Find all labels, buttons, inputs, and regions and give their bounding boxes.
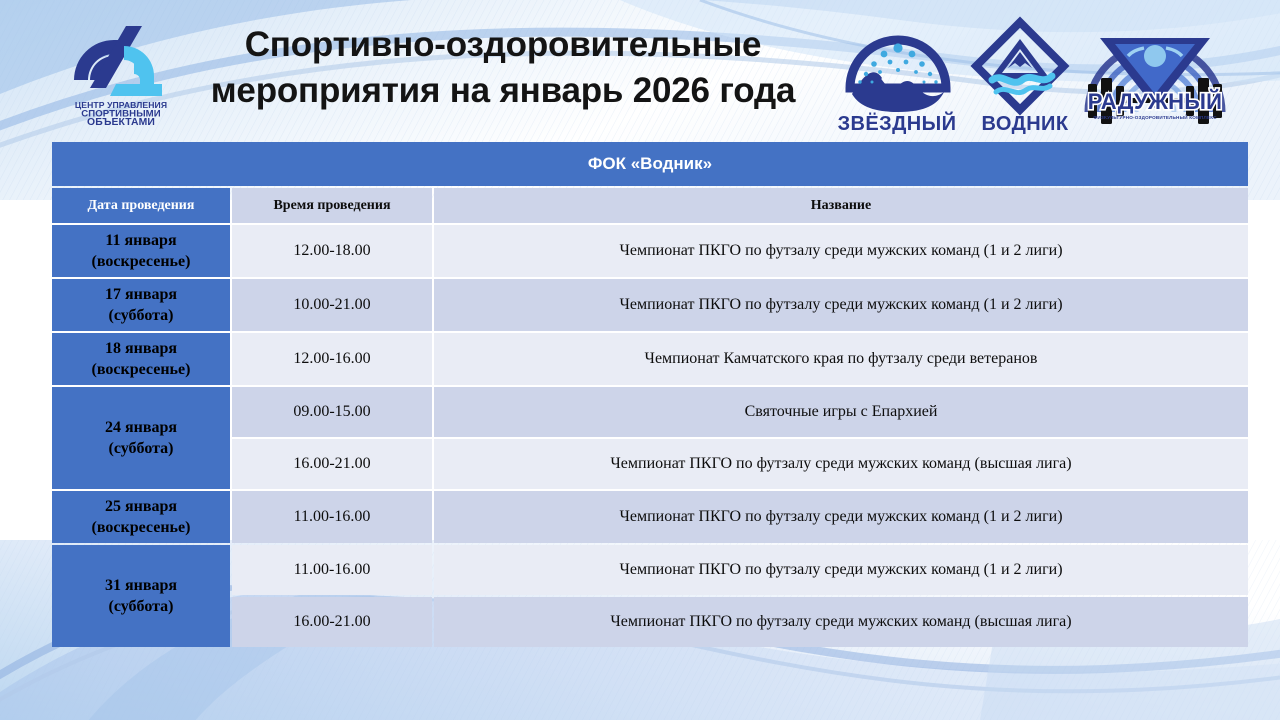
venue-logo-group: ЗВЁЗДНЫЙ ВОДНИК bbox=[820, 14, 1240, 136]
event-name-cell: Чемпионат ПКГО по футзалу среди мужских … bbox=[434, 279, 1248, 331]
time-cell: 11.00-16.00 bbox=[232, 545, 432, 595]
svg-text:ОБЪЕКТАМИ: ОБЪЕКТАМИ bbox=[87, 117, 155, 126]
event-name-cell: Чемпионат ПКГО по футзалу среди мужских … bbox=[434, 545, 1248, 595]
raduzhny-sublabel: ФИЗКУЛЬТУРНО-ОЗДОРОВИТЕЛЬНЫЙ КОМПЛЕКС bbox=[1093, 113, 1217, 120]
date-cell: 24 января (суббота) bbox=[52, 387, 230, 489]
table-row: 25 января (воскресенье) 11.00-16.00 Чемп… bbox=[52, 491, 1248, 543]
table-row: 16.00-21.00 Чемпионат ПКГО по футзалу ср… bbox=[52, 439, 1248, 489]
raduzhny-logo: РАДУЖНЫЙ ФИЗКУЛЬТУРНО-ОЗДОРОВИТЕЛЬНЫЙ КО… bbox=[1070, 14, 1240, 134]
table-row: 16.00-21.00 Чемпионат ПКГО по футзалу ср… bbox=[52, 597, 1248, 647]
vodnik-logo: ВОДНИК bbox=[968, 14, 1086, 134]
date-day: 11 января bbox=[105, 232, 176, 249]
table-row: 11 января (воскресенье) 12.00-18.00 Чемп… bbox=[52, 225, 1248, 277]
time-cell: 12.00-16.00 bbox=[232, 333, 432, 385]
slide-header: ЦЕНТР УПРАВЛЕНИЯ СПОРТИВНЫМИ ОБЪЕКТАМИ С… bbox=[0, 0, 1280, 140]
event-name-cell: Чемпионат ПКГО по футзалу среди мужских … bbox=[434, 439, 1248, 489]
date-cell: 18 января (воскресенье) bbox=[52, 333, 230, 385]
table-caption-row: ФОК «Водник» bbox=[52, 142, 1248, 186]
date-weekday: (воскресенье) bbox=[92, 519, 191, 536]
date-cell: 17 января (суббота) bbox=[52, 279, 230, 331]
event-name-cell: Чемпионат Камчатского края по футзалу ср… bbox=[434, 333, 1248, 385]
org-logo: ЦЕНТР УПРАВЛЕНИЯ СПОРТИВНЫМИ ОБЪЕКТАМИ bbox=[66, 18, 176, 126]
table-row: 17 января (суббота) 10.00-21.00 Чемпиона… bbox=[52, 279, 1248, 331]
vodnik-label: ВОДНИК bbox=[982, 113, 1069, 134]
slide-root: ЦЕНТР УПРАВЛЕНИЯ СПОРТИВНЫМИ ОБЪЕКТАМИ С… bbox=[0, 0, 1280, 720]
page-title-line2: мероприятия на январь 2026 года bbox=[178, 68, 828, 114]
table-caption: ФОК «Водник» bbox=[52, 142, 1248, 186]
event-name-cell: Святочные игры с Епархией bbox=[434, 387, 1248, 437]
schedule-table: ФОК «Водник» Дата проведения Время прове… bbox=[50, 140, 1250, 649]
date-day: 17 января bbox=[105, 286, 177, 303]
table-row: 31 января (суббота) 11.00-16.00 Чемпиона… bbox=[52, 545, 1248, 595]
zvezdny-label: ЗВЁЗДНЫЙ bbox=[838, 111, 957, 134]
date-day: 18 января bbox=[105, 340, 177, 357]
raduzhny-label: РАДУЖНЫЙ bbox=[1088, 89, 1223, 114]
page-title-line1: Спортивно-оздоровительные bbox=[178, 22, 828, 68]
event-name-cell: Чемпионат ПКГО по футзалу среди мужских … bbox=[434, 597, 1248, 647]
column-header-date: Дата проведения bbox=[52, 188, 230, 223]
time-cell: 16.00-21.00 bbox=[232, 597, 432, 647]
time-cell: 11.00-16.00 bbox=[232, 491, 432, 543]
column-header-time: Время проведения bbox=[232, 188, 432, 223]
date-day: 24 января bbox=[105, 419, 177, 436]
zvezdny-logo: ЗВЁЗДНЫЙ bbox=[830, 14, 965, 134]
time-cell: 16.00-21.00 bbox=[232, 439, 432, 489]
time-cell: 10.00-21.00 bbox=[232, 279, 432, 331]
date-weekday: (воскресенье) bbox=[92, 253, 191, 270]
event-name-cell: Чемпионат ПКГО по футзалу среди мужских … bbox=[434, 491, 1248, 543]
date-day: 31 января bbox=[105, 577, 177, 594]
date-day: 25 января bbox=[105, 498, 177, 515]
column-header-name: Название bbox=[434, 188, 1248, 223]
time-cell: 12.00-18.00 bbox=[232, 225, 432, 277]
page-title: Спортивно-оздоровительные мероприятия на… bbox=[178, 22, 828, 114]
table-row: 18 января (воскресенье) 12.00-16.00 Чемп… bbox=[52, 333, 1248, 385]
table-row: 24 января (суббота) 09.00-15.00 Святочны… bbox=[52, 387, 1248, 437]
date-cell: 11 января (воскресенье) bbox=[52, 225, 230, 277]
date-cell: 31 января (суббота) bbox=[52, 545, 230, 647]
table-header-row: Дата проведения Время проведения Названи… bbox=[52, 188, 1248, 223]
date-weekday: (воскресенье) bbox=[92, 361, 191, 378]
date-cell: 25 января (воскресенье) bbox=[52, 491, 230, 543]
time-cell: 09.00-15.00 bbox=[232, 387, 432, 437]
date-weekday: (суббота) bbox=[109, 307, 174, 324]
event-name-cell: Чемпионат ПКГО по футзалу среди мужских … bbox=[434, 225, 1248, 277]
date-weekday: (суббота) bbox=[109, 598, 174, 615]
date-weekday: (суббота) bbox=[109, 440, 174, 457]
